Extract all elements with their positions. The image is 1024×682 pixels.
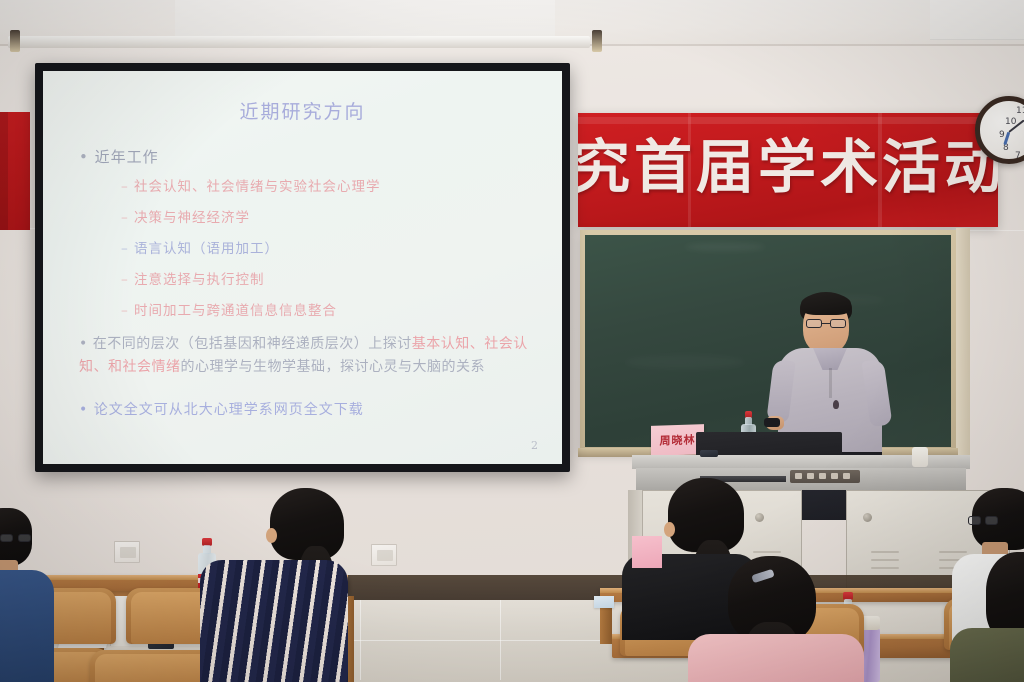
- slide-page-number: 2: [531, 439, 538, 452]
- console-control-panel[interactable]: [790, 470, 860, 483]
- student-glasses: [968, 516, 1008, 525]
- student-front-left-edge: [0, 508, 64, 682]
- slide-main-bullet: 近年工作: [79, 146, 544, 167]
- student-pink-top: [700, 556, 860, 682]
- projection-screen-frame: 近期研究方向 近年工作 社会认知、社会情绪与实验社会心理学 决策与神经经济学 语…: [35, 63, 570, 472]
- slide-paragraph-part1: 在不同的层次（包括基因和神经递质层次）上探讨: [93, 336, 412, 352]
- pink-note-on-cabinet: [632, 536, 662, 568]
- slide-title: 近期研究方向: [61, 97, 544, 124]
- glasses-right-lens: [18, 534, 31, 542]
- projection-screen-surface: 近期研究方向 近年工作 社会认知、社会情绪与实验社会心理学 决策与神经经济学 语…: [43, 71, 562, 464]
- banner-left-shadow: [0, 112, 8, 230]
- clock-numeral: 9: [999, 130, 1005, 140]
- presenter-glasses: [806, 319, 846, 328]
- chalkboard-right-edge: [956, 228, 970, 456]
- clock-numeral: 11: [1016, 106, 1024, 116]
- slide-sub-bullet: 决策与神经经济学: [121, 206, 544, 226]
- student-glasses: [0, 534, 40, 543]
- cabinet-vent: [871, 551, 899, 553]
- outlet-socket: [120, 547, 136, 558]
- wall-outlet-left[interactable]: [114, 541, 140, 563]
- slide-last-bullet: 论文全文可从北大心理学系网页全文下载: [79, 399, 544, 419]
- wall-outlet-right[interactable]: [371, 544, 397, 566]
- banner-text: 究首届学术活动周: [578, 135, 998, 199]
- student-ear: [266, 528, 277, 543]
- console-button[interactable]: [831, 473, 838, 479]
- glasses-right-lens: [830, 319, 846, 328]
- student-torso: [0, 570, 54, 682]
- student-ear: [664, 522, 675, 537]
- banner-highlight: [578, 117, 998, 124]
- glasses-left-lens: [806, 319, 822, 328]
- outlet-socket: [377, 550, 393, 561]
- ceiling-panel-1: [175, 0, 555, 40]
- student-olive-jacket: [986, 552, 1024, 682]
- console-button[interactable]: [819, 473, 826, 479]
- chalk-smudge: [685, 243, 765, 251]
- ceiling-panel-2: [930, 0, 1024, 40]
- floor-tile-line: [500, 600, 501, 680]
- cabinet-lock[interactable]: [863, 513, 872, 522]
- slide-sub-bullet: 语言认知（语用加工）: [121, 237, 544, 257]
- slide-sub-bullet: 注意选择与执行控制: [121, 268, 544, 288]
- presenter-clicker: [764, 418, 780, 427]
- slide-sub-bullet: 社会认知、社会情绪与实验社会心理学: [121, 175, 544, 195]
- console-button[interactable]: [843, 473, 850, 479]
- event-banner: 究首届学术活动周: [578, 113, 998, 227]
- glasses-bridge: [822, 323, 830, 324]
- wall-seam-2: [968, 230, 1024, 231]
- clock-numeral: 7: [1015, 151, 1021, 161]
- presentation-slide: 近期研究方向 近年工作 社会认知、社会情绪与实验社会心理学 决策与神经经济学 语…: [43, 71, 562, 464]
- presenter-hair-top: [801, 293, 851, 315]
- presenter-shirt-logo: [833, 400, 839, 409]
- presenter-placket: [829, 368, 832, 398]
- cup-on-console: [912, 447, 928, 467]
- student-torso: [688, 634, 864, 682]
- phone-on-console: [700, 450, 718, 457]
- paper-on-right-desk: [594, 596, 614, 608]
- student-patterned-dress: [192, 488, 362, 682]
- roller-bracket-right: [592, 30, 602, 52]
- name-placard-text: 周晓林: [660, 431, 696, 448]
- cabinet-vent: [871, 567, 899, 569]
- slide-paragraph: 在不同的层次（包括基因和神经递质层次）上探讨基本认知、社会认知、和社会情绪的心理…: [79, 333, 544, 379]
- student-torso: [950, 628, 1024, 682]
- glasses-right-lens: [985, 516, 998, 525]
- console-button[interactable]: [807, 473, 814, 479]
- console-button[interactable]: [795, 473, 802, 479]
- slide-paragraph-part2: 的心理学与生物学基础，探讨心灵与大脑的关系: [181, 359, 486, 375]
- chalk-smudge: [625, 355, 745, 369]
- glasses-left-lens: [968, 516, 981, 525]
- student-torso: [200, 560, 348, 682]
- lecture-hall-scene: 究首届学术活动周 11 12 10 9 8 7: [0, 0, 1024, 682]
- glasses-left-lens: [0, 534, 13, 542]
- roller-bracket-left: [10, 30, 20, 52]
- screen-roller: [8, 36, 590, 48]
- cabinet-vent: [871, 559, 899, 561]
- slide-sub-bullet: 时间加工与跨通道信息信息整合: [121, 299, 544, 319]
